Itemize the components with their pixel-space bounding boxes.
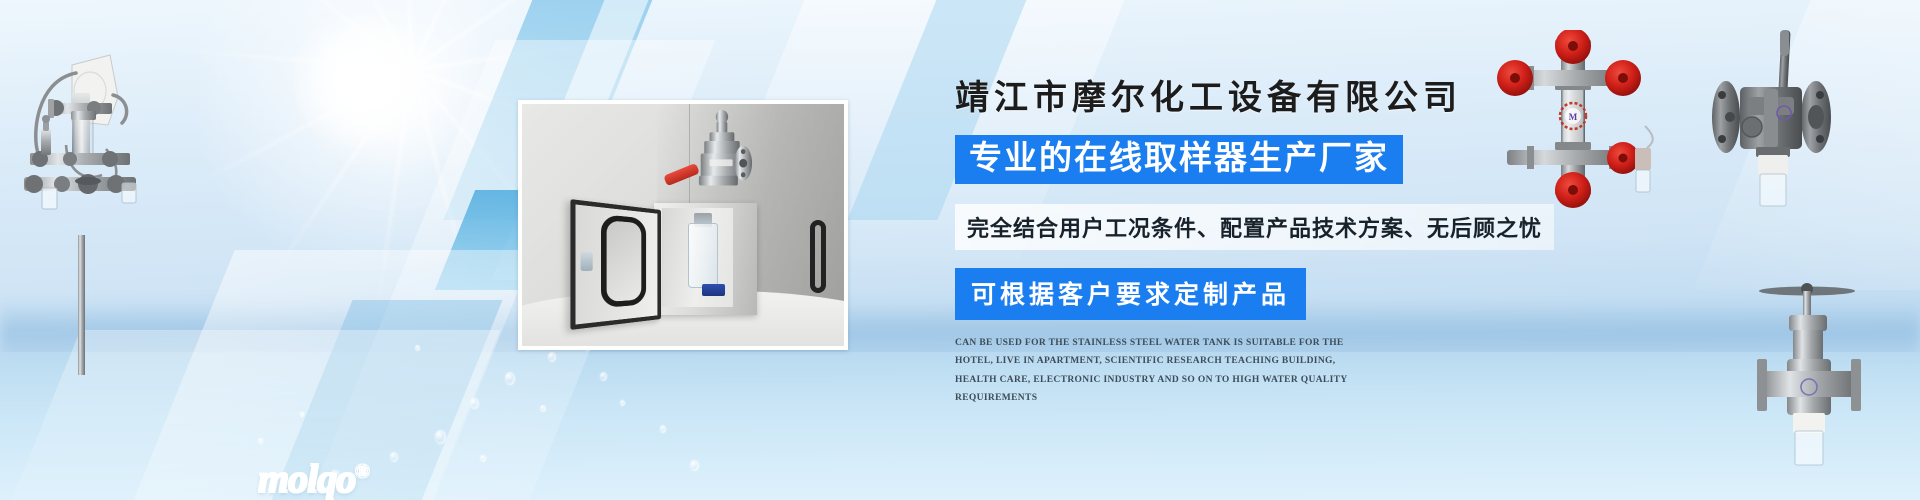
brand-logo: molqo®: [258, 455, 368, 500]
decorative-stripe: [1693, 0, 1920, 290]
photo-door-window: [601, 215, 646, 309]
brand-logo-text: molqo: [258, 456, 355, 500]
banner-text-block: 靖江市摩尔化工设备有限公司 专业的在线取样器生产厂家 完全结合用户工况条件、配置…: [955, 70, 1595, 408]
company-name: 靖江市摩尔化工设备有限公司: [955, 70, 1595, 119]
slogan-secondary: 完全结合用户工况条件、配置产品技术方案、无后顾之忧: [955, 204, 1554, 250]
photo-blue-cap: [702, 284, 725, 296]
product-photo: [518, 100, 848, 350]
photo-door-latch: [580, 253, 592, 272]
photo-cabinet-side-handle: [810, 220, 826, 293]
promotional-banner: M: [0, 0, 1920, 500]
slogan-custom-badge: 可根据客户要求定制产品: [955, 268, 1306, 320]
sun-core: [290, 10, 430, 150]
registered-trademark-icon: ®: [355, 462, 368, 483]
slogan-primary-badge: 专业的在线取样器生产厂家: [955, 135, 1403, 184]
equipment-lever-valve: [1700, 25, 1840, 215]
english-description: CAN BE USED FOR THE STAINLESS STEEL WATE…: [955, 334, 1370, 408]
photo-sample-bottle: [688, 223, 719, 288]
photo-cabinet-door: [570, 200, 660, 331]
photo-valve-assembly: [683, 109, 754, 206]
